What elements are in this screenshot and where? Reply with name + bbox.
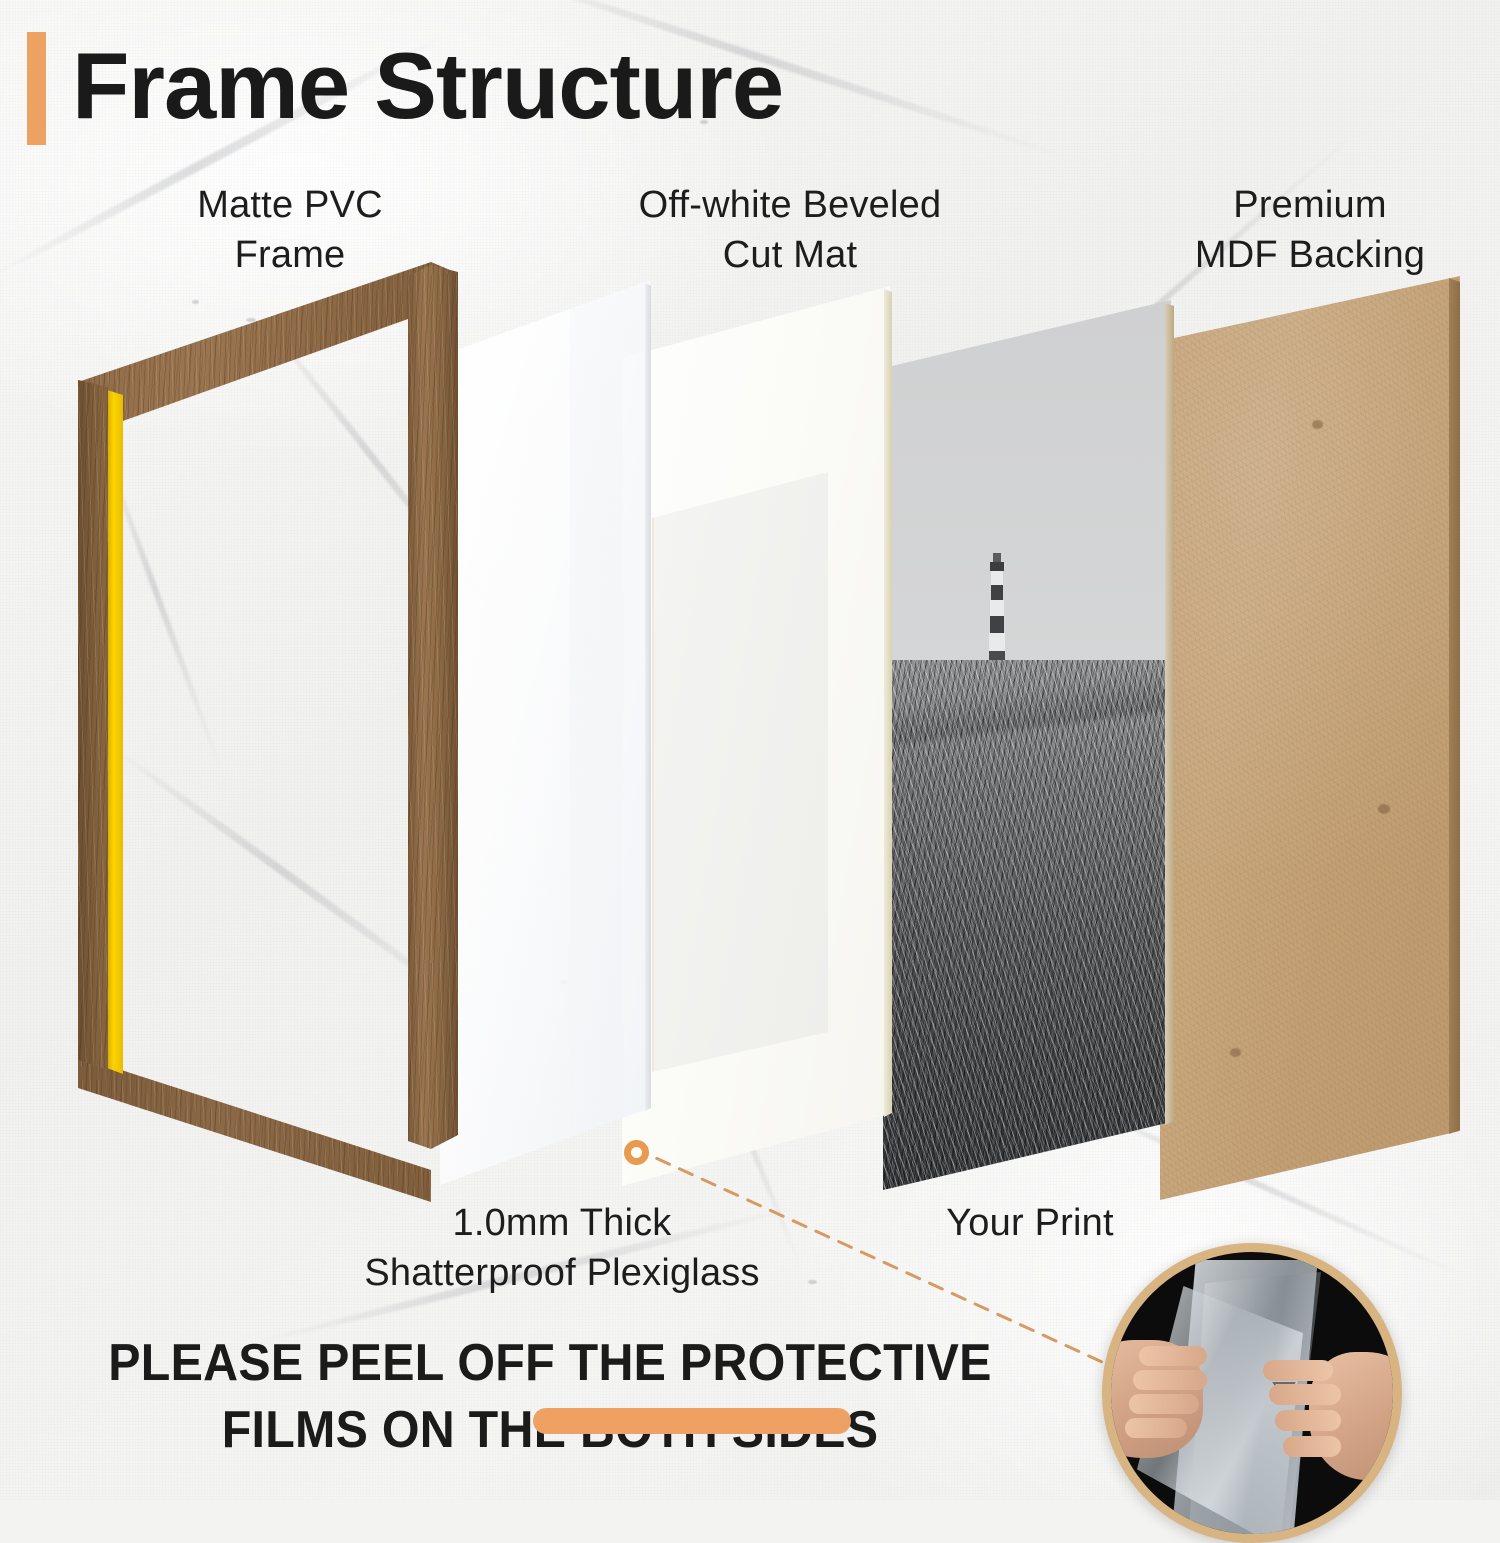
label-cut-mat: Off-white Beveled Cut Mat — [560, 180, 1020, 280]
layer-plexiglass — [440, 280, 650, 1185]
mdf-backing-edge — [1449, 278, 1460, 1198]
mdf-fixing-mark — [1378, 804, 1390, 814]
plexiglass-sheen — [440, 280, 570, 1185]
mdf-fiber-texture — [1160, 276, 1460, 1200]
callout-marker-icon — [624, 1140, 649, 1165]
mdf-fixing-mark — [1230, 1048, 1241, 1057]
hand-left — [1102, 1340, 1203, 1458]
title-accent-bar — [27, 32, 46, 145]
both-sides-highlight — [533, 1408, 851, 1434]
frame-opening — [122, 398, 414, 1078]
label-cut-mat-line1: Off-white Beveled — [560, 180, 1020, 230]
peel-notice-line1: PLEASE PEEL OFF THE PROTECTIVE — [39, 1330, 1062, 1397]
layer-print — [883, 300, 1171, 1190]
page-title: Frame Structure — [72, 33, 783, 138]
label-cut-mat-line2: Cut Mat — [560, 230, 1020, 280]
finger — [1263, 1360, 1333, 1381]
wood-grain — [408, 265, 458, 1200]
label-your-print: Your Print — [880, 1198, 1180, 1248]
label-plexiglass-line1: 1.0mm Thick — [272, 1198, 852, 1248]
hand-right — [1309, 1352, 1402, 1480]
mat-edge — [884, 289, 892, 1183]
frame-rail-right — [408, 265, 458, 1200]
dune-grass — [883, 660, 1171, 1190]
label-mdf-backing-line2: MDF Backing — [1120, 230, 1500, 280]
frame-yellow-liner — [107, 390, 123, 1080]
finger — [1129, 1394, 1199, 1414]
plexiglass-edge — [645, 283, 651, 1183]
label-plexiglass: 1.0mm Thick Shatterproof Plexiglass — [272, 1198, 852, 1298]
layer-mat-board — [622, 286, 890, 1186]
peeling-film-highlight — [1189, 1272, 1321, 1543]
finger — [1283, 1436, 1341, 1457]
infographic-canvas: Frame Structure Matte PVC Frame Off-whit… — [0, 0, 1500, 1500]
finger — [1125, 1418, 1187, 1438]
label-mdf-backing-line1: Premium — [1120, 180, 1500, 230]
label-plexiglass-line2: Shatterproof Plexiglass — [272, 1248, 852, 1298]
label-pvc-frame-line1: Matte PVC — [120, 180, 460, 230]
finger — [1269, 1384, 1341, 1405]
finger — [1275, 1410, 1341, 1431]
layer-pvc-frame — [78, 262, 450, 1200]
label-mdf-backing: Premium MDF Backing — [1120, 180, 1500, 280]
finger — [1139, 1346, 1207, 1366]
mat-window-opening — [652, 472, 828, 1072]
finger — [1133, 1370, 1207, 1390]
mdf-fixing-mark — [1312, 420, 1323, 429]
dune-blades — [883, 660, 1171, 1190]
protective-film-photo — [1102, 1243, 1402, 1543]
print-edge — [1165, 303, 1174, 1187]
layer-mdf-backing — [1160, 276, 1460, 1200]
peel-notice: PLEASE PEEL OFF THE PROTECTIVE FILMS ON … — [0, 1330, 1100, 1463]
